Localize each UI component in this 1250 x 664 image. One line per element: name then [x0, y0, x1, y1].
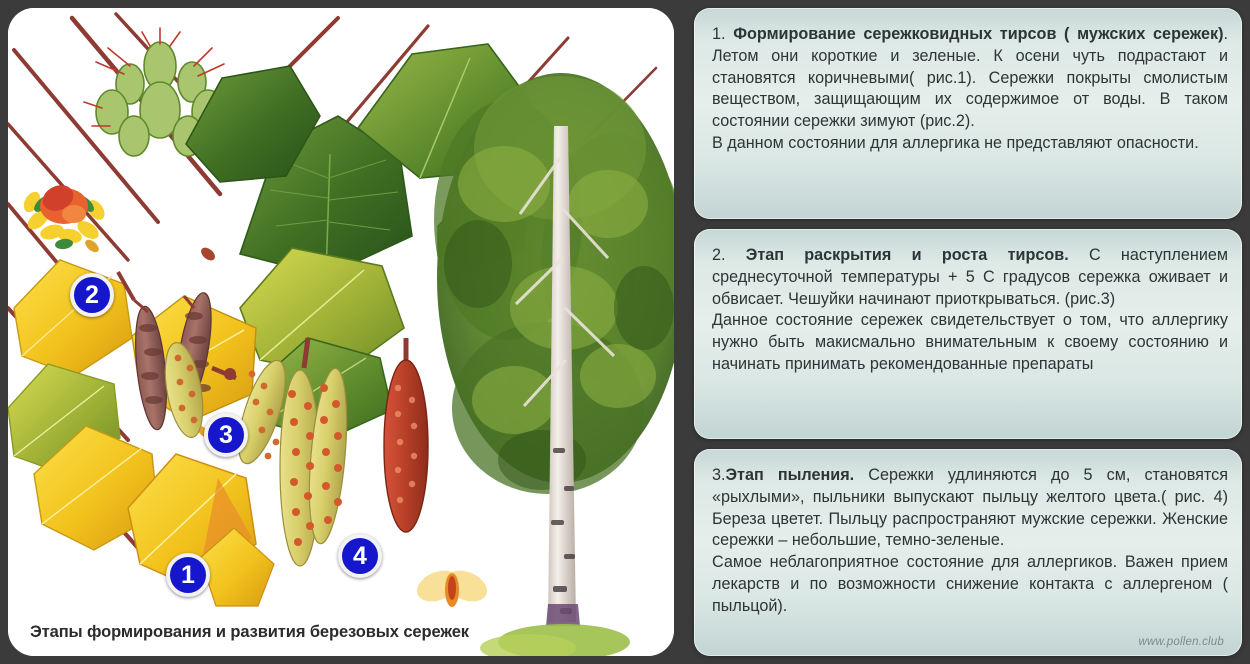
stage-3-note: Самое неблагоприятное состояние для алле… [712, 553, 1228, 615]
illustration-panel: 1 2 3 4 Этапы формирования и развития бе… [8, 8, 674, 656]
stage-badge-3[interactable]: 3 [204, 413, 248, 457]
stage-badge-2[interactable]: 2 [70, 273, 114, 317]
stage-panel-2-text: 2. Этап раскрытия и роста тирсов. С наст… [712, 245, 1228, 376]
stage-badge-4[interactable]: 4 [338, 534, 382, 578]
illustration-caption: Этапы формирования и развития березовых … [8, 623, 674, 642]
stage-2-note: Данное состояние сережек свидетельствует… [712, 311, 1228, 373]
poster-root: 1 2 3 4 Этапы формирования и развития бе… [0, 0, 1250, 664]
watermark: www.pollen.club [1139, 636, 1224, 648]
stage-panel-3-text: 3.Этап пыления. Сережки удлиняются до 5 … [712, 465, 1228, 617]
stage-3-number: 3. [712, 466, 726, 484]
stage-2-number: 2. [712, 246, 726, 264]
stage-panel-2: 2. Этап раскрытия и роста тирсов. С наст… [694, 229, 1242, 439]
stage-1-note: В данном состоянии для аллергика не пред… [712, 134, 1199, 152]
stage-panel-3: 3.Этап пыления. Сережки удлиняются до 5 … [694, 449, 1242, 656]
stage-2-title: Этап раскрытия и роста тирсов. [746, 246, 1069, 264]
stage-panel-1-text: 1. Формирование сережковидных тирсов ( м… [712, 24, 1228, 155]
stage-1-number: 1. [712, 25, 726, 43]
stage-panel-1: 1. Формирование сережковидных тирсов ( м… [694, 8, 1242, 219]
stage-badge-1[interactable]: 1 [166, 553, 210, 597]
stage-1-title: Формирование сережковидных тирсов ( мужс… [733, 25, 1223, 43]
stage-3-title: Этап пыления. [726, 466, 855, 484]
